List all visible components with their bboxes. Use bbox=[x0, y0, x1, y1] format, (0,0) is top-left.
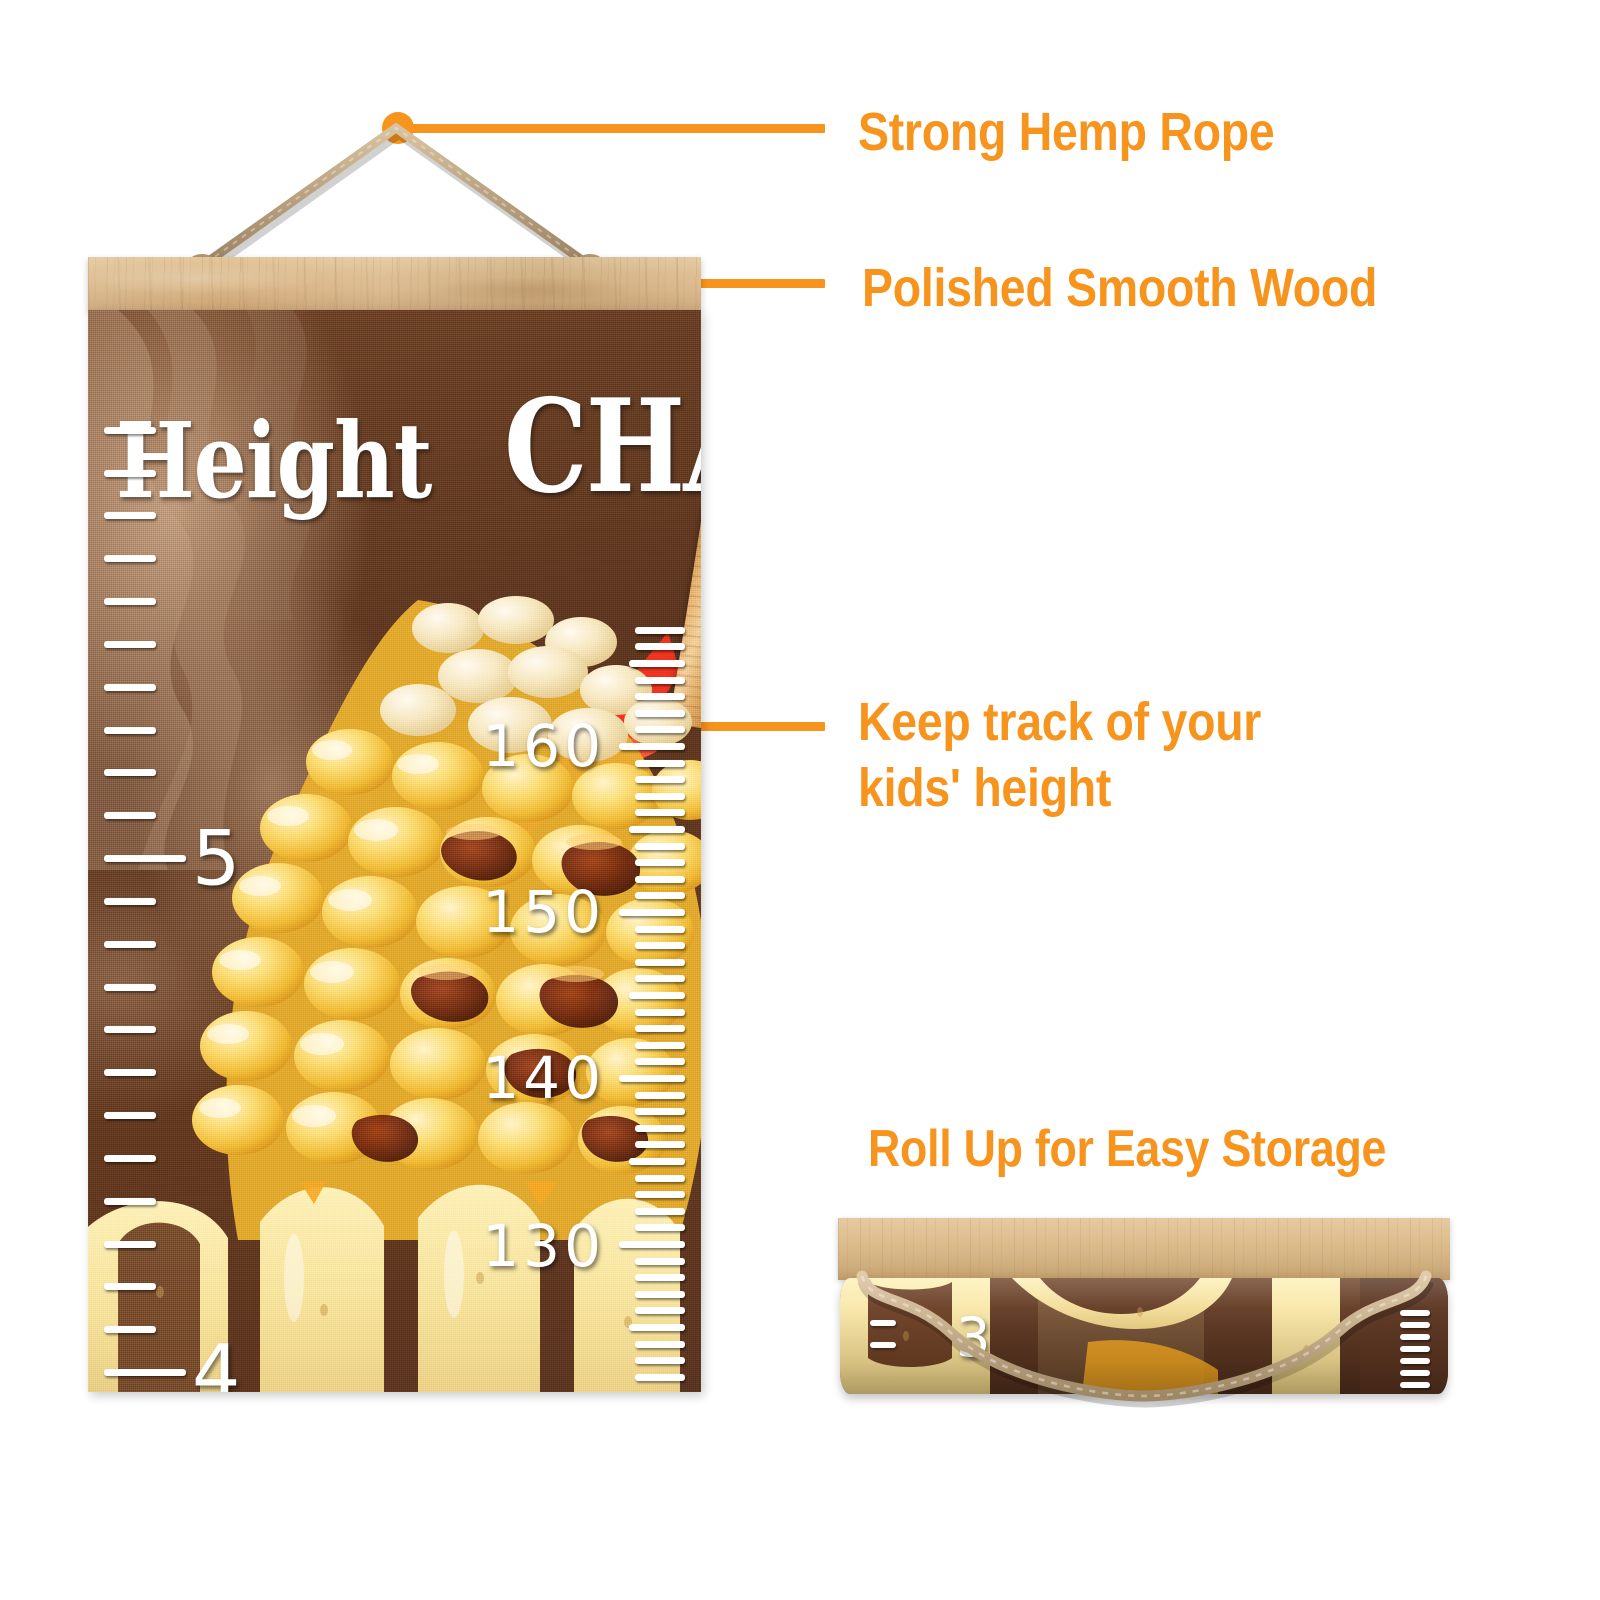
cm-major-tick bbox=[619, 1075, 685, 1082]
cm-major-tick bbox=[619, 743, 685, 750]
ft-minor-tick bbox=[104, 1198, 156, 1205]
cm-minor-tick bbox=[635, 1258, 685, 1265]
cm-major-tick bbox=[619, 1241, 685, 1248]
callout-label-smooth-wood: Polished Smooth Wood bbox=[862, 256, 1377, 322]
cm-minor-tick bbox=[635, 1274, 685, 1281]
cm-minor-tick bbox=[635, 677, 685, 684]
cm-minor-tick bbox=[635, 1092, 685, 1099]
callout-label-keep-track: Keep track of your kids' height bbox=[858, 690, 1261, 822]
cm-minor-tick bbox=[635, 1025, 685, 1032]
cm-minor-tick bbox=[635, 693, 685, 700]
ft-minor-tick bbox=[104, 984, 156, 991]
cm-minor-tick bbox=[629, 992, 685, 999]
cm-minor-tick bbox=[635, 1191, 685, 1198]
cm-major-tick bbox=[619, 909, 685, 916]
cm-minor-tick bbox=[635, 776, 685, 783]
cm-ruler-scale bbox=[609, 310, 701, 1392]
cm-minor-tick bbox=[629, 1324, 685, 1331]
rolled-up-product: 3 bbox=[838, 1218, 1450, 1408]
cm-label-130: 130 bbox=[482, 1212, 605, 1280]
page-title: Height CHART bbox=[116, 358, 676, 528]
hemp-rope-hanging bbox=[88, 118, 702, 268]
infographic-stage: Strong Hemp Rope Polished Smooth Wood Ke… bbox=[0, 0, 1600, 1600]
cm-minor-tick bbox=[635, 1341, 685, 1348]
ft-label-5: 5 bbox=[192, 814, 244, 903]
wood-hanger-bar-top bbox=[88, 257, 701, 311]
callout-label-hemp-rope: Strong Hemp Rope bbox=[858, 100, 1274, 166]
cm-minor-tick bbox=[635, 1208, 685, 1215]
ft-minor-tick bbox=[104, 1112, 156, 1119]
ft-minor-tick bbox=[104, 598, 156, 605]
cm-minor-tick bbox=[635, 1291, 685, 1298]
callout-label-roll-up-storage: Roll Up for Easy Storage bbox=[868, 1118, 1386, 1181]
ft-minor-tick bbox=[104, 470, 156, 477]
ft-minor-tick bbox=[104, 941, 156, 948]
cm-minor-tick bbox=[629, 1158, 685, 1165]
cm-minor-tick bbox=[635, 1224, 685, 1231]
cm-minor-tick bbox=[635, 1357, 685, 1364]
cm-label-150: 150 bbox=[482, 878, 605, 946]
cm-minor-tick bbox=[635, 1374, 685, 1381]
cm-label-140: 140 bbox=[482, 1044, 605, 1112]
cm-minor-tick bbox=[635, 1141, 685, 1148]
height-chart-canvas: Height CHART 160 150 140 130 5 4 bbox=[88, 310, 701, 1392]
cm-minor-tick bbox=[635, 892, 685, 899]
ft-minor-tick bbox=[104, 512, 156, 519]
ft-minor-tick bbox=[104, 1069, 156, 1076]
ft-minor-tick bbox=[104, 812, 156, 819]
cm-minor-tick bbox=[635, 726, 685, 733]
cm-minor-tick bbox=[635, 710, 685, 717]
ft-minor-tick bbox=[104, 1155, 156, 1162]
cm-minor-tick bbox=[635, 1108, 685, 1115]
hemp-rope-draped bbox=[854, 1270, 1434, 1400]
cm-minor-tick bbox=[635, 809, 685, 816]
cm-minor-tick bbox=[635, 793, 685, 800]
ft-minor-tick bbox=[104, 1326, 156, 1333]
cm-label-160: 160 bbox=[482, 712, 605, 780]
cm-minor-tick bbox=[635, 760, 685, 767]
ft-minor-tick bbox=[104, 727, 156, 734]
cm-minor-tick bbox=[635, 1175, 685, 1182]
cm-minor-tick bbox=[635, 1009, 685, 1016]
cm-minor-tick bbox=[635, 643, 685, 650]
ft-major-tick bbox=[104, 855, 186, 862]
cm-minor-tick bbox=[635, 926, 685, 933]
cm-minor-tick bbox=[635, 1307, 685, 1314]
ft-minor-tick bbox=[104, 1026, 156, 1033]
cm-minor-tick bbox=[635, 959, 685, 966]
cm-minor-tick bbox=[635, 1058, 685, 1065]
cm-minor-tick bbox=[635, 843, 685, 850]
cm-minor-tick bbox=[629, 660, 685, 667]
cm-minor-tick bbox=[635, 942, 685, 949]
callout-line-track bbox=[684, 722, 825, 731]
cm-minor-tick bbox=[629, 826, 685, 833]
cm-minor-tick bbox=[635, 876, 685, 883]
ft-minor-tick bbox=[104, 769, 156, 776]
ft-minor-tick bbox=[104, 427, 156, 434]
ft-minor-tick bbox=[104, 555, 156, 562]
ft-major-tick bbox=[104, 1369, 186, 1376]
ft-minor-tick bbox=[104, 898, 156, 905]
cm-minor-tick bbox=[635, 1125, 685, 1132]
ft-label-4: 4 bbox=[192, 1328, 244, 1393]
ft-minor-tick bbox=[104, 684, 156, 691]
ft-minor-tick bbox=[104, 641, 156, 648]
feet-ruler-scale bbox=[88, 310, 166, 1392]
ft-minor-tick bbox=[104, 1283, 156, 1290]
cm-minor-tick bbox=[635, 975, 685, 982]
cm-minor-tick bbox=[635, 627, 685, 634]
cm-minor-tick bbox=[635, 859, 685, 866]
cm-minor-tick bbox=[635, 1042, 685, 1049]
ft-minor-tick bbox=[104, 1241, 156, 1248]
